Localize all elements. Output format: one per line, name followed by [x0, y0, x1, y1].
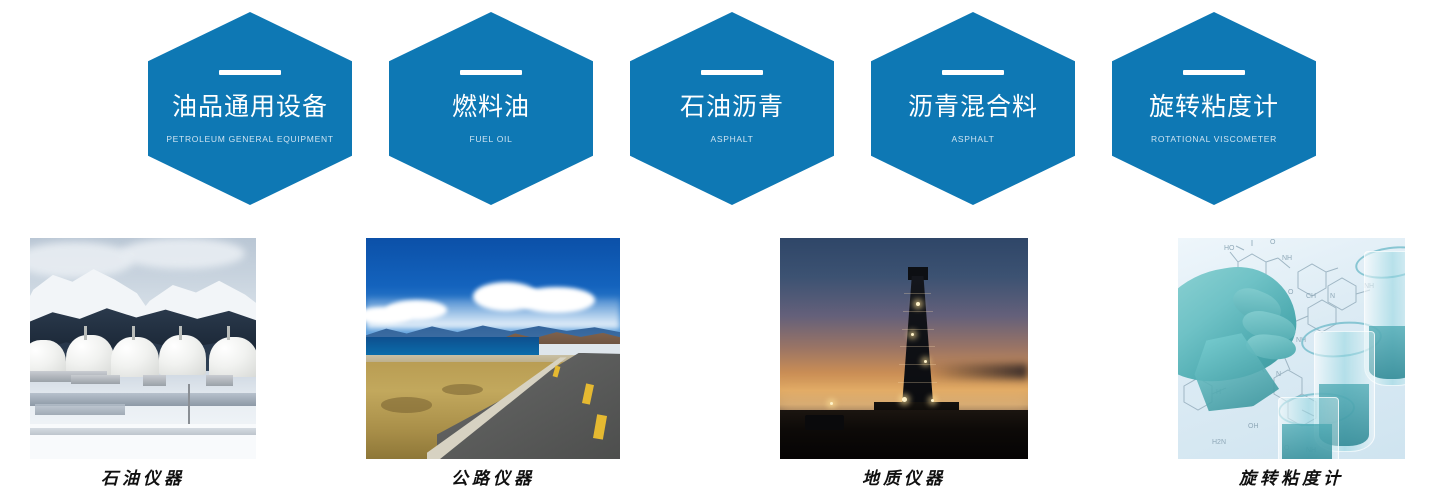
page-root: 油品通用设备 PETROLEUM GENERAL EQUIPMENT 燃料油 F…: [0, 0, 1440, 500]
category-hex-rotational-viscometer[interactable]: 旋转粘度计 ROTATIONAL VISCOMETER: [1112, 12, 1316, 205]
category-subtitle: PETROLEUM GENERAL EQUIPMENT: [166, 134, 333, 144]
svg-text:N: N: [1330, 293, 1335, 300]
divider-rule: [460, 70, 522, 75]
category-hex-row: 油品通用设备 PETROLEUM GENERAL EQUIPMENT 燃料油 F…: [0, 0, 1440, 215]
svg-text:N: N: [1276, 371, 1281, 378]
divider-rule: [219, 70, 281, 75]
svg-text:NH: NH: [1282, 255, 1292, 262]
category-subtitle: ASPHALT: [951, 134, 994, 144]
divider-rule: [942, 70, 1004, 75]
gallery-image-highway[interactable]: [366, 238, 620, 459]
scene-lab-glove-flask-molecules: HO O NH NH O CH N NH N H H2N N O NH: [1178, 238, 1405, 459]
gallery-caption: 石油仪器: [30, 462, 256, 496]
category-hex-fuel-oil[interactable]: 燃料油 FUEL OIL: [389, 12, 593, 205]
scene-highway-lake-mountains: [366, 238, 620, 459]
gallery-image-drilling-rig[interactable]: [780, 238, 1028, 459]
category-hex-asphalt-mixture[interactable]: 沥青混合料 ASPHALT: [871, 12, 1075, 205]
gallery-caption: 公路仪器: [366, 462, 620, 496]
scene-oil-rig-dusk: [780, 238, 1028, 459]
scene-snow-mountains-tank-farm: [30, 238, 256, 459]
gallery-image-petroleum[interactable]: [30, 238, 256, 459]
category-subtitle: ASPHALT: [710, 134, 753, 144]
gallery-caption: 地质仪器: [780, 462, 1028, 496]
category-hex-asphalt[interactable]: 石油沥青 ASPHALT: [630, 12, 834, 205]
gallery-caption-row: 石油仪器 公路仪器 地质仪器 旋转粘度计: [0, 462, 1440, 500]
divider-rule: [701, 70, 763, 75]
svg-text:CH: CH: [1306, 293, 1316, 300]
category-title: 旋转粘度计: [1149, 95, 1279, 120]
gallery-image-row: HO O NH NH O CH N NH N H H2N N O NH: [0, 238, 1440, 460]
svg-text:HO: HO: [1224, 245, 1235, 252]
gallery-caption: 旋转粘度计: [1178, 462, 1405, 496]
category-title: 油品通用设备: [172, 95, 328, 120]
category-title: 沥青混合料: [908, 95, 1038, 120]
divider-rule: [1183, 70, 1245, 75]
gallery-image-viscometer-lab[interactable]: HO O NH NH O CH N NH N H H2N N O NH: [1178, 238, 1405, 459]
svg-text:O: O: [1270, 239, 1276, 246]
category-hex-petroleum-general-equipment[interactable]: 油品通用设备 PETROLEUM GENERAL EQUIPMENT: [148, 12, 352, 205]
category-subtitle: ROTATIONAL VISCOMETER: [1151, 134, 1277, 144]
svg-text:OH: OH: [1248, 423, 1259, 430]
category-subtitle: FUEL OIL: [469, 134, 512, 144]
svg-text:H2N: H2N: [1212, 439, 1226, 446]
category-title: 燃料油: [452, 95, 530, 120]
svg-text:O: O: [1288, 289, 1294, 296]
category-title: 石油沥青: [680, 95, 784, 120]
